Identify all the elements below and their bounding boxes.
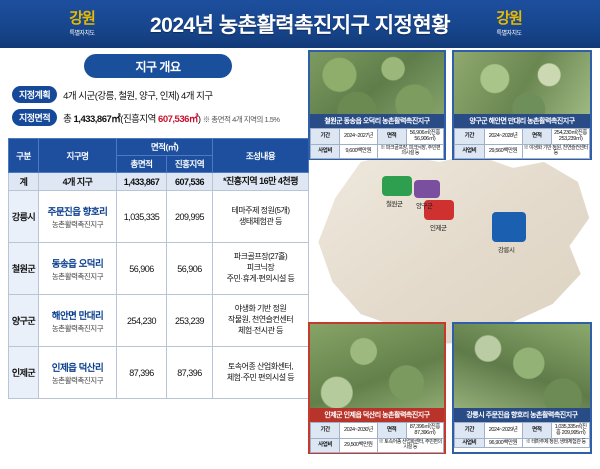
photo-info-table-inje: 기간 2024~2030년 면적 87,396㎡(진흥 87,396㎡) 사업비… bbox=[310, 422, 444, 452]
th-description: 조성내용 bbox=[213, 139, 309, 173]
bullet-area: 지정면적 총 1,433,867㎡(진흥지역 607,536㎡) ※ 총면적 4… bbox=[12, 109, 304, 126]
table-header-row-1: 구분 지구명 면적(㎡) 조성내용 bbox=[9, 139, 309, 156]
mini-val-budget-3: 96,900백만원 bbox=[484, 438, 522, 447]
mini-val-area-3: 1,035,335㎡(진흥 209,995㎡) bbox=[552, 423, 590, 439]
area-total: 1,433,867㎡ bbox=[74, 114, 121, 125]
row1-desc: 파크골프장(27홀) 피크닉장 주민·휴게·편의시설 등 bbox=[213, 243, 309, 295]
photo-card-gangneung: 강릉시 주문진읍 향호리 농촌활력촉진지구 기간 2024~2029년 면적 1… bbox=[452, 322, 592, 454]
photo-caption-inje: 인제군 인제읍 덕산리 농촌활력촉진지구 bbox=[310, 408, 444, 422]
row2-desc: 야생화 기반 정원 작물원, 천연슬컨센터 체험·전시관 등 bbox=[213, 295, 309, 347]
row0-region: 강릉시 bbox=[9, 191, 39, 243]
th-district: 지구명 bbox=[39, 139, 117, 173]
row3-district-sub: 농촌활력촉진지구 bbox=[40, 375, 115, 386]
mini-val-period-0: 2024~2027년 bbox=[340, 129, 377, 145]
area-note: ※ 총면적 4개 지역의 1.5% bbox=[203, 115, 280, 124]
th-promo-area: 진흥지역 bbox=[167, 156, 213, 173]
area-suffix: ) bbox=[198, 114, 201, 125]
photo-info-table-cheorwon: 기간 2024~2027년 면적 56,906㎡(진흥 56,906㎡) 사업비… bbox=[310, 128, 444, 158]
mini-val-period-2: 2024~2030년 bbox=[340, 423, 377, 439]
map-label-yanggu: 양구군 bbox=[416, 200, 432, 210]
mini-note-2: ※ 토속어종 산업화센터, 주민편의시설 등 bbox=[377, 438, 444, 453]
mini-head-budget-2: 사업비 bbox=[311, 438, 340, 453]
mini-head-budget-3: 사업비 bbox=[455, 438, 485, 447]
mini-head-area-1: 면적 bbox=[522, 129, 552, 145]
mini-head-area-3: 면적 bbox=[522, 423, 552, 439]
mini-head-period-1: 기간 bbox=[455, 129, 485, 145]
row3-district-name: 인제읍 덕산리 bbox=[40, 360, 115, 374]
mini-note-1: ※ 야생화 기반 정원, 천연슬컨센터 등 bbox=[522, 144, 590, 159]
row0-promo: 209,995 bbox=[167, 191, 213, 243]
row1-district-name: 동송읍 오덕리 bbox=[40, 256, 115, 270]
th-total-area: 총면적 bbox=[117, 156, 167, 173]
table-row: 철원군 동송읍 오덕리 농촌활력촉진지구 56,906 56,906 파크골프장… bbox=[9, 243, 309, 295]
photo-card-yanggu: 양구군 해안면 만대리 농촌활력촉진지구 기간 2024~2028년 면적 25… bbox=[452, 50, 592, 160]
photo-caption-yanggu: 양구군 해안면 만대리 농촌활력촉진지구 bbox=[454, 114, 590, 128]
logo-main-text-2: 강원 bbox=[496, 11, 522, 26]
map-blob-cheorwon bbox=[382, 176, 412, 196]
table-row: 강릉시 주문진읍 향호리 농촌활력촉진지구 1,035,335 209,995 … bbox=[9, 191, 309, 243]
map-label-inje: 인제군 bbox=[430, 222, 446, 232]
logo-sub-text-2: 특별자치도 bbox=[496, 28, 521, 37]
table-row-total: 계 4개 지구 1,433,867 607,536 *진흥지역 16만 4천평 bbox=[9, 173, 309, 191]
row1-district: 동송읍 오덕리 농촌활력촉진지구 bbox=[39, 243, 117, 295]
overview-section-title: 지구 개요 bbox=[84, 54, 232, 78]
map-label-gangneung: 강릉시 bbox=[498, 244, 514, 254]
mini-val-budget-1: 29,560백만원 bbox=[484, 144, 522, 159]
row1-district-sub: 농촌활력촉진지구 bbox=[40, 271, 115, 282]
mini-val-budget-2: 29,500백만원 bbox=[340, 438, 377, 453]
photo-card-inje: 인제군 인제읍 덕산리 농촌활력촉진지구 기간 2024~2030년 면적 87… bbox=[308, 322, 446, 454]
row1-promo: 56,906 bbox=[167, 243, 213, 295]
photo-caption-gangneung: 강릉시 주문진읍 향호리 농촌활력촉진지구 bbox=[454, 408, 590, 422]
mini-head-budget-0: 사업비 bbox=[311, 144, 340, 159]
bullet-plan-tag: 지정계획 bbox=[12, 86, 57, 103]
mini-val-period-1: 2024~2028년 bbox=[484, 129, 522, 145]
row2-promo: 253,239 bbox=[167, 295, 213, 347]
table-row: 인제군 인제읍 덕산리 농촌활력촉진지구 87,396 87,396 토속어종 … bbox=[9, 347, 309, 399]
row2-district-name: 해안면 만대리 bbox=[40, 308, 115, 322]
bullet-plan-text: 4개 시군(강릉, 철원, 양구, 인제) 4개 지구 bbox=[63, 86, 213, 102]
mini-head-area-0: 면적 bbox=[377, 129, 406, 145]
table-head: 구분 지구명 면적(㎡) 조성내용 총면적 진흥지역 bbox=[9, 139, 309, 173]
map-label-cheorwon: 철원군 bbox=[386, 198, 402, 208]
row0-district-name: 주문진읍 향호리 bbox=[40, 204, 115, 218]
mini-val-area-1: 254,230㎡(진흥 253,239㎡) bbox=[552, 129, 590, 145]
row2-district-sub: 농촌활력촉진지구 bbox=[40, 323, 115, 334]
total-area: 1,433,867 bbox=[117, 173, 167, 191]
total-promo: 607,536 bbox=[167, 173, 213, 191]
row0-total: 1,035,335 bbox=[117, 191, 167, 243]
photo-info-table-gangneung: 기간 2024~2029년 면적 1,035,335㎡(진흥 209,995㎡)… bbox=[454, 422, 590, 452]
overview-bullets: 지정계획 4개 시군(강릉, 철원, 양구, 인제) 4개 지구 지정면적 총 … bbox=[8, 84, 308, 138]
logo-gangwon-right: 강원 특별자치도 bbox=[485, 6, 533, 42]
mini-head-budget-1: 사업비 bbox=[455, 144, 485, 159]
row3-promo: 87,396 bbox=[167, 347, 213, 399]
th-area-group: 면적(㎡) bbox=[117, 139, 213, 156]
row2-district: 해안면 만대리 농촌활력촉진지구 bbox=[39, 295, 117, 347]
row1-region: 철원군 bbox=[9, 243, 39, 295]
mini-head-period-3: 기간 bbox=[455, 423, 485, 439]
mini-val-period-3: 2024~2029년 bbox=[484, 423, 522, 439]
mini-note-0: ※ 파크골프장, 피크닉장, 주민편의시설 등 bbox=[377, 144, 444, 159]
row2-region: 양구군 bbox=[9, 295, 39, 347]
districts-table: 구분 지구명 면적(㎡) 조성내용 총면적 진흥지역 계 4개 지구 1,433… bbox=[8, 138, 309, 399]
area-mid: (진흥지역 bbox=[120, 114, 158, 125]
mini-head-period-2: 기간 bbox=[311, 423, 340, 439]
photo-caption-cheorwon: 철원군 동송읍 오덕리 농촌활력촉진지구 bbox=[310, 114, 444, 128]
total-label: 계 bbox=[9, 173, 39, 191]
mini-head-area-2: 면적 bbox=[377, 423, 406, 439]
total-desc: *진흥지역 16만 4천평 bbox=[213, 173, 309, 191]
area-prefix: 총 bbox=[63, 114, 73, 125]
area-highlight: 607,536㎡ bbox=[158, 114, 198, 125]
total-name: 4개 지구 bbox=[39, 173, 117, 191]
map-background bbox=[310, 150, 592, 350]
left-column: 지구 개요 지정계획 4개 시군(강릉, 철원, 양구, 인제) 4개 지구 지… bbox=[8, 54, 308, 399]
bullet-plan: 지정계획 4개 시군(강릉, 철원, 양구, 인제) 4개 지구 bbox=[12, 86, 304, 103]
mini-val-area-0: 56,906㎡(진흥 56,906㎡) bbox=[406, 129, 443, 145]
mini-note-3: ※ 테마주제 정원, 생태체험관 등 bbox=[522, 438, 590, 447]
mini-val-area-2: 87,396㎡(진흥 87,396㎡) bbox=[406, 423, 443, 439]
row3-total: 87,396 bbox=[117, 347, 167, 399]
bullet-area-text: 총 1,433,867㎡(진흥지역 607,536㎡) ※ 총면적 4개 지역의… bbox=[63, 109, 279, 125]
row2-total: 254,230 bbox=[117, 295, 167, 347]
row3-desc: 토속어종 산업화센터, 체험·주민 편의시설 등 bbox=[213, 347, 309, 399]
row0-district-sub: 농촌활력촉진지구 bbox=[40, 219, 115, 230]
row3-region: 인제군 bbox=[9, 347, 39, 399]
photo-card-cheorwon: 철원군 동송읍 오덕리 농촌활력촉진지구 기간 2024~2027년 면적 56… bbox=[308, 50, 446, 160]
map-blob-yanggu bbox=[414, 180, 440, 198]
row0-desc: 테마주제 정원(5개) 생태체험관 등 bbox=[213, 191, 309, 243]
mini-val-budget-0: 9,600백만원 bbox=[340, 144, 377, 159]
map-blob-gangneung bbox=[492, 212, 526, 242]
table-row: 양구군 해안면 만대리 농촌활력촉진지구 254,230 253,239 야생화… bbox=[9, 295, 309, 347]
photo-info-table-yanggu: 기간 2024~2028년 면적 254,230㎡(진흥 253,239㎡) 사… bbox=[454, 128, 590, 158]
mini-head-period-0: 기간 bbox=[311, 129, 340, 145]
row1-total: 56,906 bbox=[117, 243, 167, 295]
table-body: 계 4개 지구 1,433,867 607,536 *진흥지역 16만 4천평 … bbox=[9, 173, 309, 399]
bullet-area-tag: 지정면적 bbox=[12, 109, 57, 126]
row0-district: 주문진읍 향호리 농촌활력촉진지구 bbox=[39, 191, 117, 243]
row3-district: 인제읍 덕산리 농촌활력촉진지구 bbox=[39, 347, 117, 399]
gangwon-map: 철원군 양구군 인제군 강릉시 bbox=[310, 150, 592, 350]
th-region: 구분 bbox=[9, 139, 39, 173]
page-header: 강원 특별자치도 2024년 농촌활력촉진지구 지정현황 강원 특별자치도 bbox=[0, 0, 600, 48]
